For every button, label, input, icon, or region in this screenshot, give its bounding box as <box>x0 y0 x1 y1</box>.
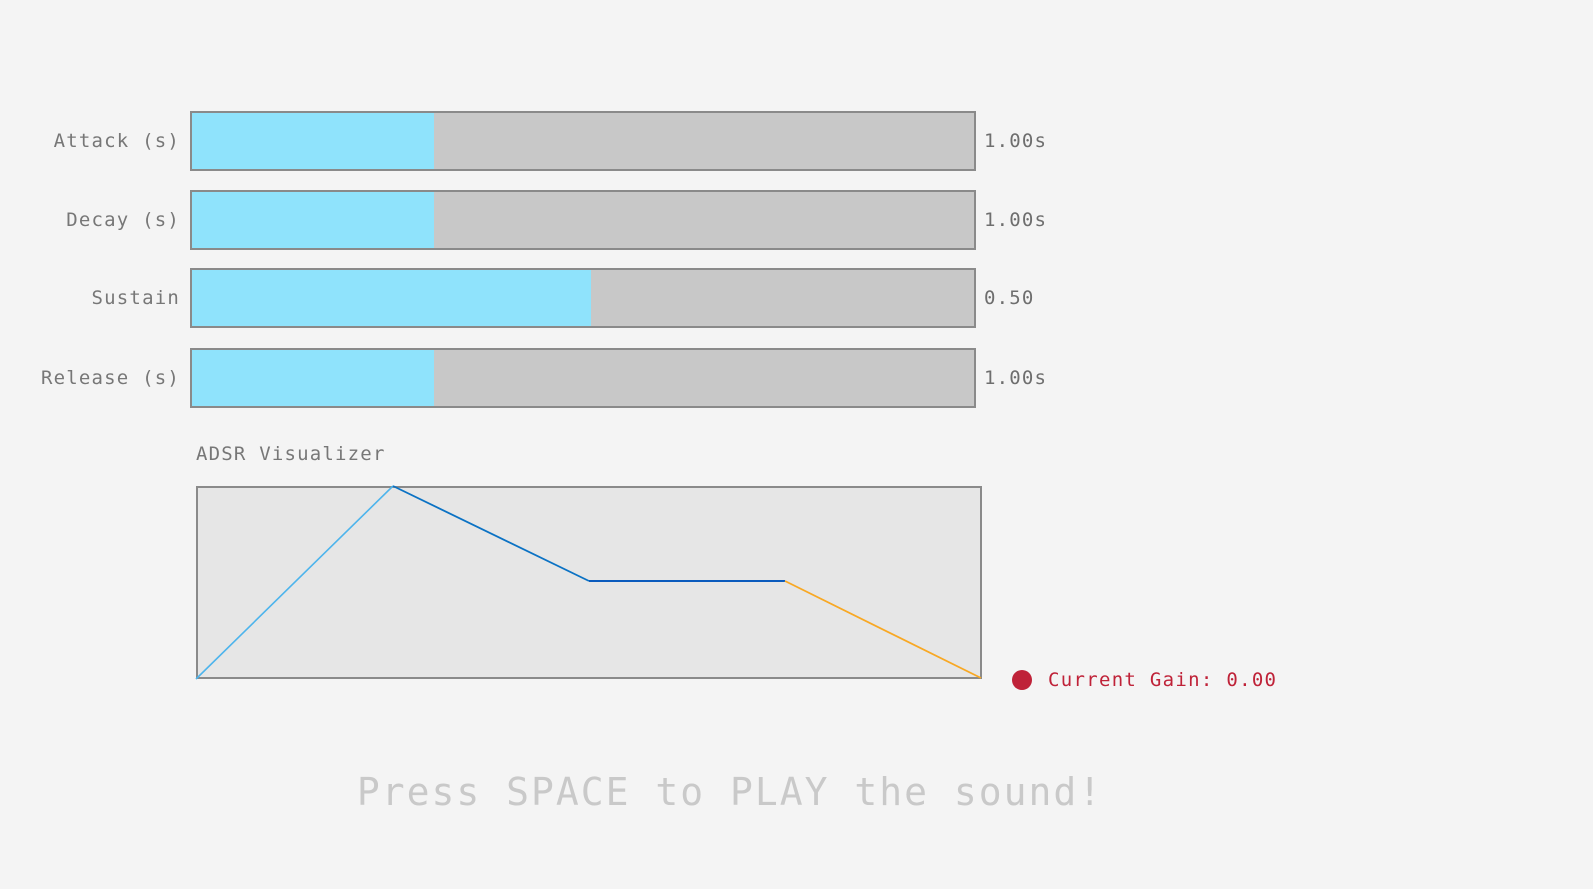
envelope-segment-decay <box>393 486 589 581</box>
slider-row-release: Release (s) 1.00s <box>0 347 1100 409</box>
slider-value-decay: 1.00s <box>984 209 1047 231</box>
slider-value-attack: 1.00s <box>984 130 1047 152</box>
slider-fill-release <box>192 350 434 406</box>
slider-release[interactable] <box>190 348 976 408</box>
visualizer-title: ADSR Visualizer <box>196 443 386 465</box>
slider-row-decay: Decay (s) 1.00s <box>0 189 1100 251</box>
play-hint-text: Press SPACE to PLAY the sound! <box>0 770 1460 814</box>
slider-decay[interactable] <box>190 190 976 250</box>
slider-value-sustain: 0.50 <box>984 287 1035 309</box>
slider-fill-attack <box>192 113 434 169</box>
current-gain-label: Current Gain: 0.00 <box>1048 669 1277 691</box>
adsr-envelope-graph <box>196 486 982 679</box>
slider-sustain[interactable] <box>190 268 976 328</box>
envelope-segment-attack <box>196 486 393 679</box>
slider-row-sustain: Sustain 0.50 <box>0 267 1100 329</box>
current-gain-indicator: Current Gain: 0.00 <box>1012 669 1277 691</box>
slider-label-sustain: Sustain <box>0 287 190 309</box>
slider-label-release: Release (s) <box>0 367 190 389</box>
slider-label-decay: Decay (s) <box>0 209 190 231</box>
gain-level-dot-icon <box>1012 670 1032 690</box>
envelope-segment-release <box>785 581 981 678</box>
slider-row-attack: Attack (s) 1.00s <box>0 110 1100 172</box>
slider-fill-sustain <box>192 270 591 326</box>
slider-attack[interactable] <box>190 111 976 171</box>
slider-label-attack: Attack (s) <box>0 130 190 152</box>
slider-fill-decay <box>192 192 434 248</box>
adsr-synth-app: Attack (s) 1.00s Decay (s) 1.00s Sustain… <box>0 0 1593 889</box>
slider-value-release: 1.00s <box>984 367 1047 389</box>
